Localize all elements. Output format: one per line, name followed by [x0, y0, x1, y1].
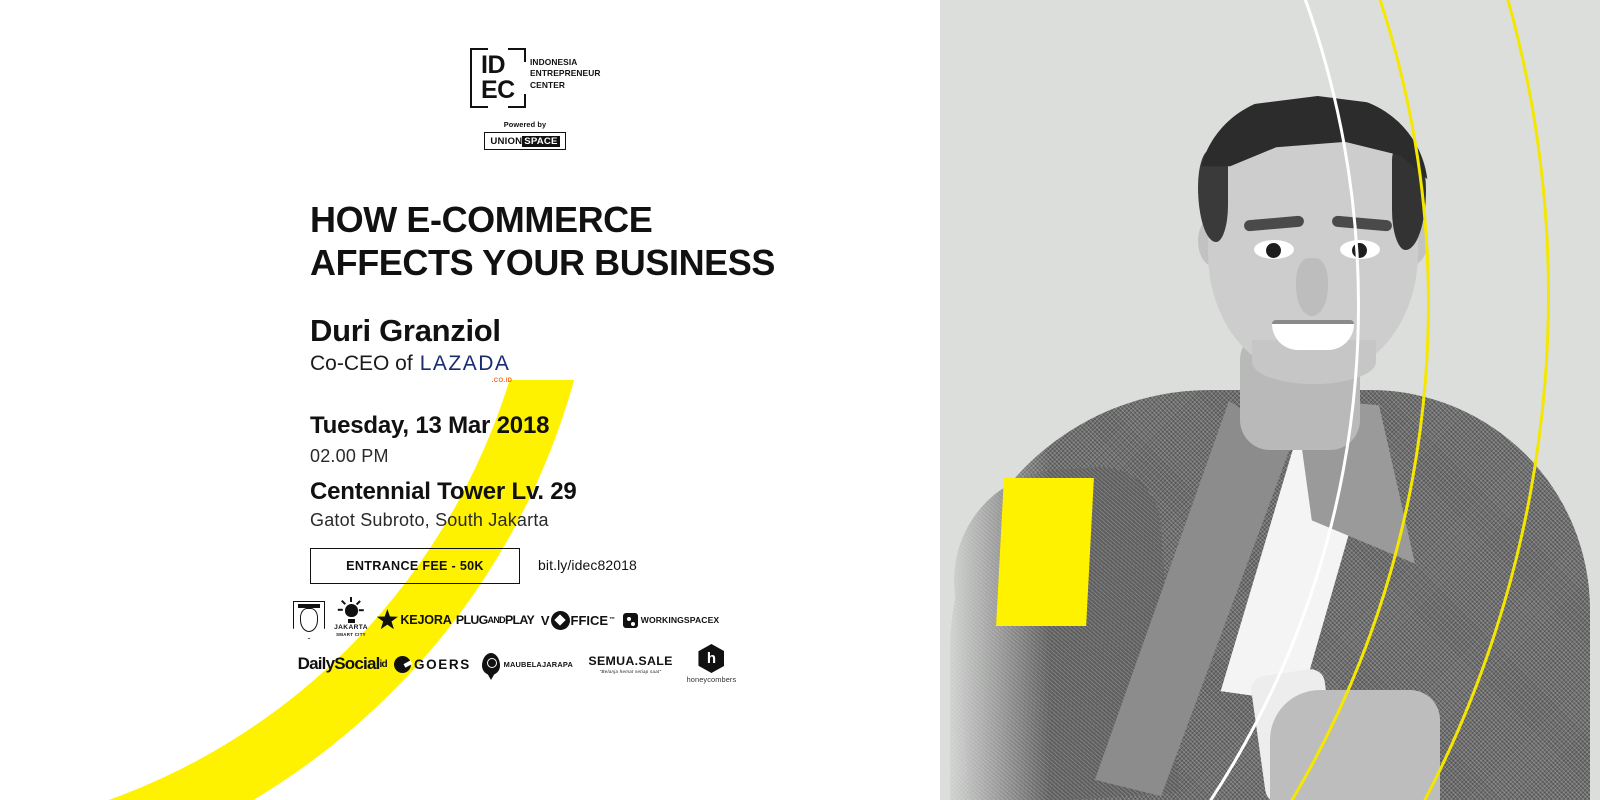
star-icon	[376, 609, 398, 631]
poster-content: ID EC INDONESIA ENTREPRENEUR CENTER Powe…	[0, 0, 900, 800]
lightbulb-rays-icon	[339, 598, 364, 623]
title-line-1: HOW E-COMMERCE	[310, 198, 870, 241]
sponsor-maubelajarapa: MAUBELAJARAPA	[472, 653, 582, 675]
logo-word-indonesia: INDONESIA	[530, 57, 601, 68]
powered-by-block: Powered by UNIONSPACE	[470, 120, 580, 150]
logo-letters-id: ID	[481, 53, 515, 78]
sponsor-workingspacex: WORKINGSPACEX	[618, 613, 724, 628]
sponsor-jakarta-smart-city: JAKARTA SMART CITY	[326, 604, 376, 637]
unionspace-space: SPACE	[522, 136, 559, 147]
semuasale-tagline: "Belanja hemat setiap saat"	[600, 669, 662, 674]
event-date: Tuesday, 13 Mar 2018	[310, 412, 549, 440]
event-poster: ID EC INDONESIA ENTREPRENEUR CENTER Powe…	[0, 0, 1600, 800]
jakarta-shield-icon	[293, 601, 325, 639]
pnp-and: AND	[488, 614, 505, 627]
voffice-tm: ™	[609, 617, 615, 623]
lazada-logo: LAZADA .CO.ID	[420, 352, 511, 376]
logo-word-center: CENTER	[530, 80, 601, 91]
pnp-play: PLAY	[505, 614, 534, 627]
speaker-name: Duri Granziol	[310, 312, 501, 350]
dailysocial-id: id	[380, 659, 387, 670]
wsx-label: WORKINGSPACEX	[641, 615, 720, 625]
sponsor-logos: JAKARTA SMART CITY KEJORA PLUGANDPLAY V …	[292, 598, 744, 686]
sponsor-voffice: V FFICE ™	[538, 611, 618, 630]
lazada-domain: .CO.ID	[492, 378, 513, 384]
event-venue: Centennial Tower Lv. 29	[310, 478, 577, 506]
title-line-2: AFFECTS YOUR BUSINESS	[310, 241, 870, 284]
idec-logo: ID EC INDONESIA ENTREPRENEUR CENTER	[470, 48, 600, 108]
goers-label: GOERS	[414, 657, 471, 672]
logo-word-entrepreneur: ENTREPRENEUR	[530, 68, 601, 79]
honeycomb-hex-icon: h	[698, 644, 724, 673]
sponsor-honeycombers: h honeycombers	[679, 644, 744, 684]
semuasale-label: SEMUA.SALE	[588, 654, 672, 668]
entrance-fee-badge: ENTRANCE FEE - 50K	[310, 548, 520, 584]
voffice-ffice: FFICE	[571, 613, 609, 628]
jakarta-monas-icon	[300, 608, 318, 632]
sponsor-semua-sale: SEMUA.SALE "Belanja hemat setiap saat"	[582, 654, 679, 674]
lazada-wordmark: LAZADA	[420, 352, 511, 375]
unionspace-union: UNION	[490, 136, 522, 147]
mba-apa: APA	[557, 660, 573, 669]
map-pin-icon	[482, 653, 500, 675]
voffice-v: V	[541, 613, 550, 628]
page-title: HOW E-COMMERCE AFFECTS YOUR BUSINESS	[310, 198, 870, 284]
lightbulb-icon	[345, 604, 358, 617]
goers-g-icon	[394, 656, 411, 673]
sponsor-goers: GOERS	[392, 656, 472, 673]
logo-letters-ec: EC	[481, 78, 515, 103]
jakarta-shield-top	[298, 604, 320, 608]
event-time: 02.00 PM	[310, 446, 389, 467]
logo-letters: ID EC	[481, 53, 515, 103]
sponsor-kejora: KEJORA	[376, 609, 452, 631]
pnp-plug: PLUG	[456, 614, 488, 627]
mba-mau: MAU	[504, 660, 521, 669]
kejora-label: KEJORA	[400, 613, 451, 627]
registration-url[interactable]: bit.ly/idec82018	[538, 557, 637, 573]
sponsor-row-2: DailySocialid GOERS MAUBELAJARAPA SEMUA.…	[292, 642, 744, 686]
sponsor-row-1: JAKARTA SMART CITY KEJORA PLUGANDPLAY V …	[292, 598, 744, 642]
speaker-role-text: Co-CEO of	[310, 352, 413, 376]
logo-wordmark: INDONESIA ENTREPRENEUR CENTER	[530, 57, 601, 91]
jsc-label: JAKARTA	[334, 624, 368, 631]
cube-icon	[623, 613, 638, 628]
honeycombers-label: honeycombers	[687, 675, 737, 684]
speaker-role-row: Co-CEO of LAZADA .CO.ID	[310, 352, 510, 376]
sponsor-jakarta-emblem-icon	[292, 600, 326, 640]
dailysocial-label: DailySocial	[298, 654, 380, 674]
mba-belajar: BELAJAR	[521, 660, 557, 669]
event-venue-address: Gatot Subroto, South Jakarta	[310, 510, 549, 531]
mba-label: MAUBELAJARAPA	[504, 660, 573, 669]
voffice-o-icon	[551, 611, 570, 630]
sponsor-dailysocial: DailySocialid	[292, 654, 392, 674]
sponsor-plug-and-play: PLUGANDPLAY	[452, 614, 538, 627]
unionspace-logo: UNIONSPACE	[484, 132, 565, 150]
jsc-sublabel: SMART CITY	[336, 632, 366, 637]
voffice-diamond-icon	[554, 614, 565, 625]
powered-by-label: Powered by	[470, 120, 580, 129]
